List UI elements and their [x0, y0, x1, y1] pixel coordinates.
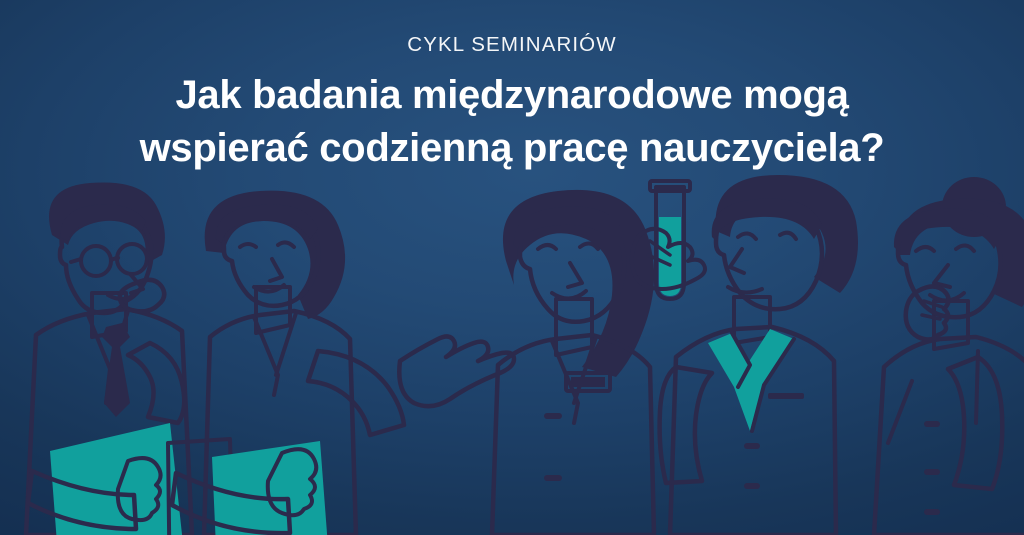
figure3-coat	[492, 335, 654, 535]
figure4-teal-collar	[708, 329, 794, 431]
figure3-button-2	[544, 475, 562, 481]
figure5-lapel-left	[888, 381, 912, 443]
figure-woman-with-bun	[874, 177, 1024, 535]
figure1-necktie	[102, 323, 130, 417]
figure-man-with-test-tube	[632, 175, 858, 535]
figure2-lapel-right	[276, 313, 296, 375]
figure2-brow-right	[278, 242, 294, 247]
figure4-pocket-line	[768, 393, 804, 399]
figure3-badge-bar	[571, 377, 605, 387]
figure3-brow-left	[538, 245, 556, 249]
title-line-1: Jak badania międzynarodowe mogą	[175, 73, 848, 117]
figure2-brow-left	[240, 244, 256, 247]
figure4-button-1	[744, 443, 760, 449]
figure1-arm	[128, 343, 184, 423]
figure4-brow-left	[738, 233, 756, 239]
figure4-arm-raised	[660, 367, 712, 483]
page-title: Jak badania międzynarodowe mogą wspierać…	[0, 69, 1024, 175]
figure4-brow-right	[780, 233, 796, 239]
figure3-button-1	[544, 413, 562, 419]
figure-woman-with-folder	[168, 191, 514, 535]
figure2-nose	[270, 259, 282, 281]
seminar-banner: CYKL SEMINARIÓW Jak badania międzynarodo…	[0, 0, 1024, 535]
figure5-button-2	[924, 469, 940, 475]
figure5-lapel-right	[976, 351, 978, 423]
figure5-brow-right	[956, 245, 974, 251]
figure4-mouth	[728, 287, 762, 293]
figure3-neck	[556, 299, 592, 355]
figure5-neck	[934, 301, 968, 349]
figure3-nose	[568, 263, 582, 287]
figure4-button-2	[744, 483, 760, 489]
figure-woman-with-badge	[492, 190, 654, 535]
figure5-brow-left	[916, 247, 934, 251]
figure4-nose	[730, 249, 744, 273]
figure5-button-3	[924, 509, 940, 515]
scientists-illustration: .ink { fill: #2b2a4c; } .pap { fill: #ff…	[0, 175, 1024, 535]
figure2-arm-extended	[308, 351, 404, 435]
figure5-hand-chin	[906, 286, 949, 339]
title-line-2: wspierać codzienną pracę nauczyciela?	[140, 126, 885, 170]
banner-eyebrow: CYKL SEMINARIÓW	[0, 33, 1024, 57]
figure5-button-1	[924, 421, 940, 427]
figure1-glasses	[71, 244, 147, 276]
figure5-nose	[934, 265, 950, 287]
figure3-brow-right	[580, 243, 598, 249]
banner-text-block: CYKL SEMINARIÓW Jak badania międzynarodo…	[0, 0, 1024, 175]
